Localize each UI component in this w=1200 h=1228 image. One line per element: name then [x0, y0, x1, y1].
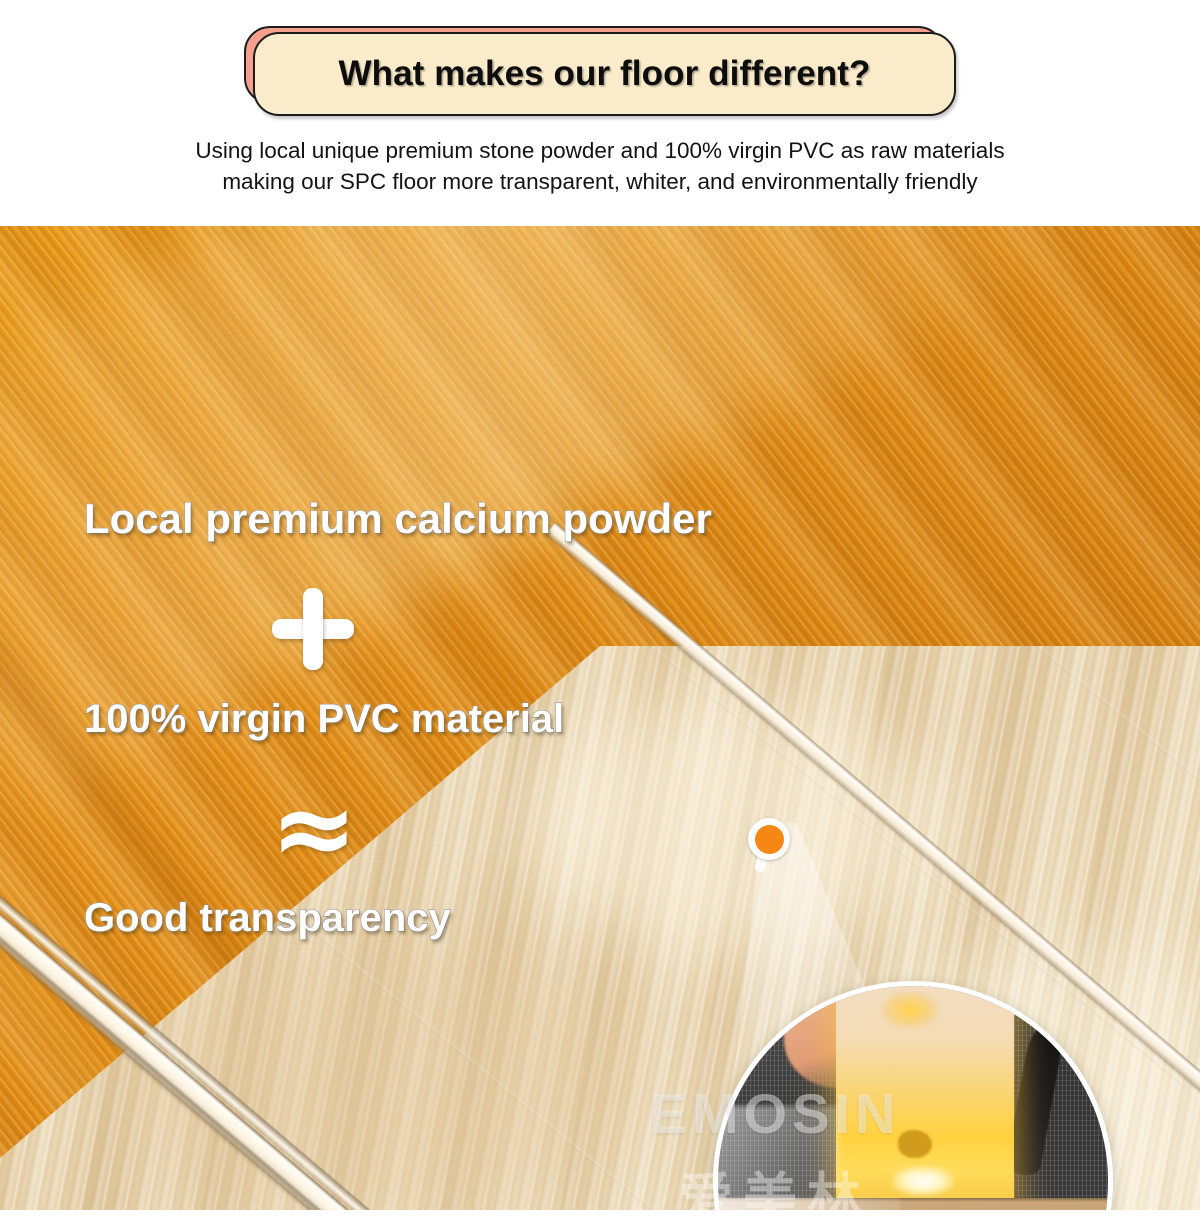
callout-marker [748, 818, 790, 860]
title-banner-card: What makes our floor different? [253, 32, 956, 116]
light-glow [882, 992, 938, 1028]
overlay-headline-2: 100% virgin PVC material [84, 699, 564, 739]
carpet-light-wash [713, 1106, 840, 1210]
subtitle-line-1: Using local unique premium stone powder … [0, 135, 1200, 166]
callout-dot-core [755, 825, 784, 854]
product-feature-infographic: What makes our floor different? Using lo… [0, 0, 1200, 1228]
light-hotspot [892, 1166, 954, 1196]
hero-photo: Local premium calcium powder 100% virgin… [0, 226, 1200, 1210]
footer-strip [0, 1210, 1200, 1228]
overlay-headline-3: Good transparency [84, 898, 451, 938]
subtitle-line-2: making our SPC floor more transparent, w… [0, 166, 1200, 197]
plus-icon-vertical-bar [303, 588, 323, 670]
subtitle-block: Using local unique premium stone powder … [0, 135, 1200, 197]
detail-inset-circle [713, 981, 1113, 1210]
plank-knot [898, 1130, 932, 1158]
page-title: What makes our floor different? [338, 54, 870, 94]
inset-scene [718, 986, 1108, 1210]
header-section: What makes our floor different? Using lo… [0, 0, 1200, 226]
approximately-equal-icon: ≈ [268, 786, 360, 884]
plus-icon [272, 588, 354, 670]
overlay-headline-1: Local premium calcium powder [84, 498, 712, 540]
title-banner: What makes our floor different? [244, 26, 960, 118]
